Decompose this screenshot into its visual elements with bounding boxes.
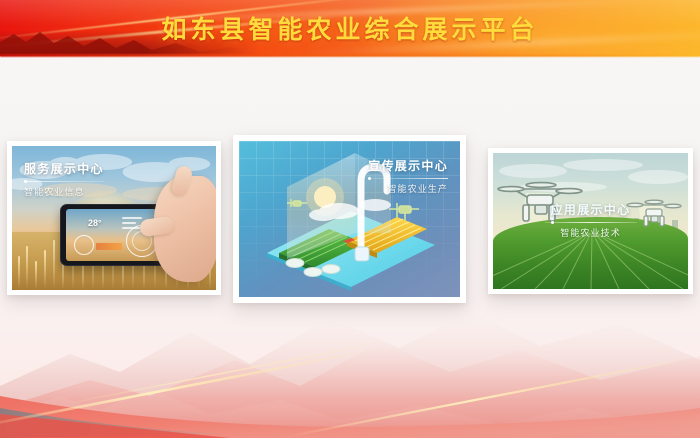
promotion-card-subtitle: 智能农业生产 bbox=[368, 182, 448, 195]
drone-icon bbox=[389, 203, 419, 221]
application-card-image: 应用展示中心 智能农业技术 bbox=[493, 153, 688, 289]
application-card-title: 应用展示中心 bbox=[493, 201, 688, 218]
service-card-caption: 服务展示中心 智能农业信息 bbox=[24, 160, 104, 198]
service-card-subtitle: 智能农业信息 bbox=[24, 185, 104, 198]
caption-divider bbox=[24, 181, 104, 182]
page-stage: 如东县智能农业综合展示平台 bbox=[0, 0, 700, 438]
service-center-card[interactable]: 28° 服务展示中心 智能农业信息 bbox=[7, 141, 221, 295]
application-card-subtitle: 智能农业技术 bbox=[493, 226, 688, 239]
promotion-card-caption: 宣传展示中心 智能农业生产 bbox=[368, 157, 448, 195]
divider-dot bbox=[368, 177, 371, 180]
promotion-card-image: 宣传展示中心 智能农业生产 bbox=[239, 141, 460, 297]
divider-dot bbox=[24, 180, 27, 183]
field-strip-widget bbox=[96, 243, 122, 250]
service-card-image: 28° 服务展示中心 智能农业信息 bbox=[12, 146, 216, 290]
application-card-caption: 应用展示中心 智能农业技术 bbox=[493, 201, 688, 239]
temperature-readout: 28° bbox=[88, 218, 102, 228]
application-center-card[interactable]: 应用展示中心 智能农业技术 bbox=[488, 148, 693, 294]
caption-divider bbox=[368, 178, 448, 179]
divider-dot bbox=[551, 221, 554, 224]
promotion-center-card[interactable]: 宣传展示中心 智能农业生产 bbox=[233, 135, 466, 303]
banner-bottom-edge bbox=[0, 54, 700, 57]
caption-divider bbox=[545, 222, 637, 223]
service-card-title: 服务展示中心 bbox=[24, 160, 104, 177]
page-title: 如东县智能农业综合展示平台 bbox=[0, 0, 700, 56]
promotion-card-title: 宣传展示中心 bbox=[368, 157, 448, 174]
header-banner: 如东县智能农业综合展示平台 bbox=[0, 0, 700, 56]
hud-ring-left bbox=[74, 235, 94, 255]
